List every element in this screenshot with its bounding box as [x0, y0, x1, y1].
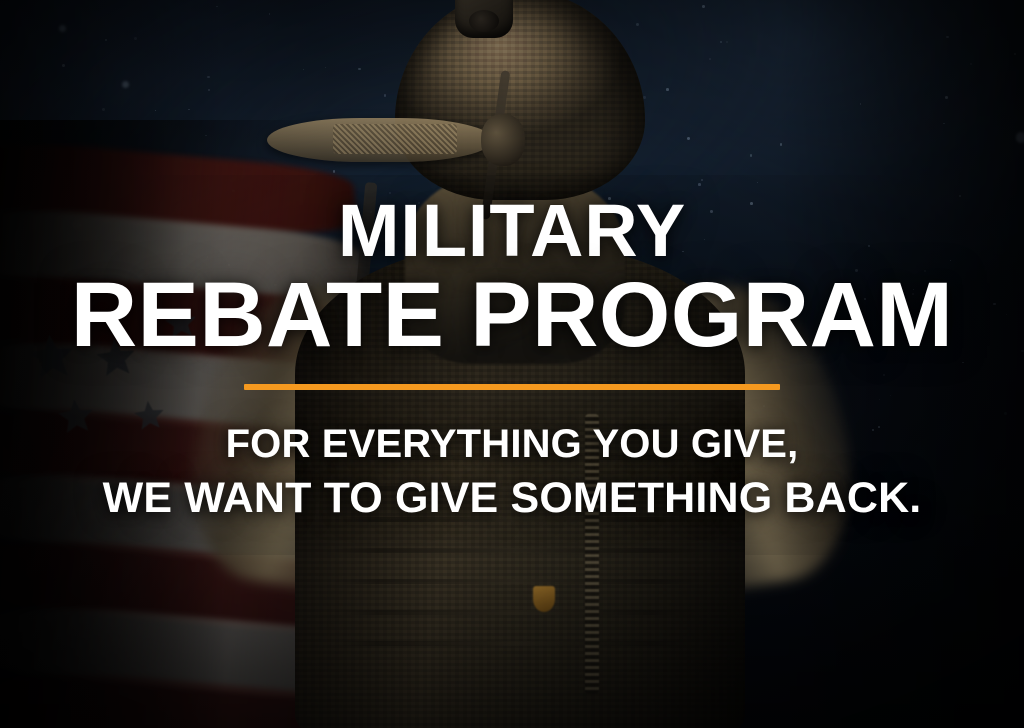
subheadline-line-1: FOR EVERYTHING YOU GIVE, — [103, 420, 922, 469]
military-rebate-program-banner: MILITARY REBATE PROGRAM FOR EVERYTHING Y… — [0, 0, 1024, 728]
subheadline: FOR EVERYTHING YOU GIVE, WE WANT TO GIVE… — [103, 420, 922, 525]
subheadline-line-2: WE WANT TO GIVE SOMETHING BACK. — [103, 472, 922, 524]
banner-content: MILITARY REBATE PROGRAM FOR EVERYTHING Y… — [0, 0, 1024, 728]
orange-divider — [244, 384, 780, 390]
headline: MILITARY REBATE PROGRAM — [0, 0, 1024, 360]
headline-line-1: MILITARY — [0, 196, 1024, 266]
headline-line-2: REBATE PROGRAM — [0, 272, 1024, 359]
